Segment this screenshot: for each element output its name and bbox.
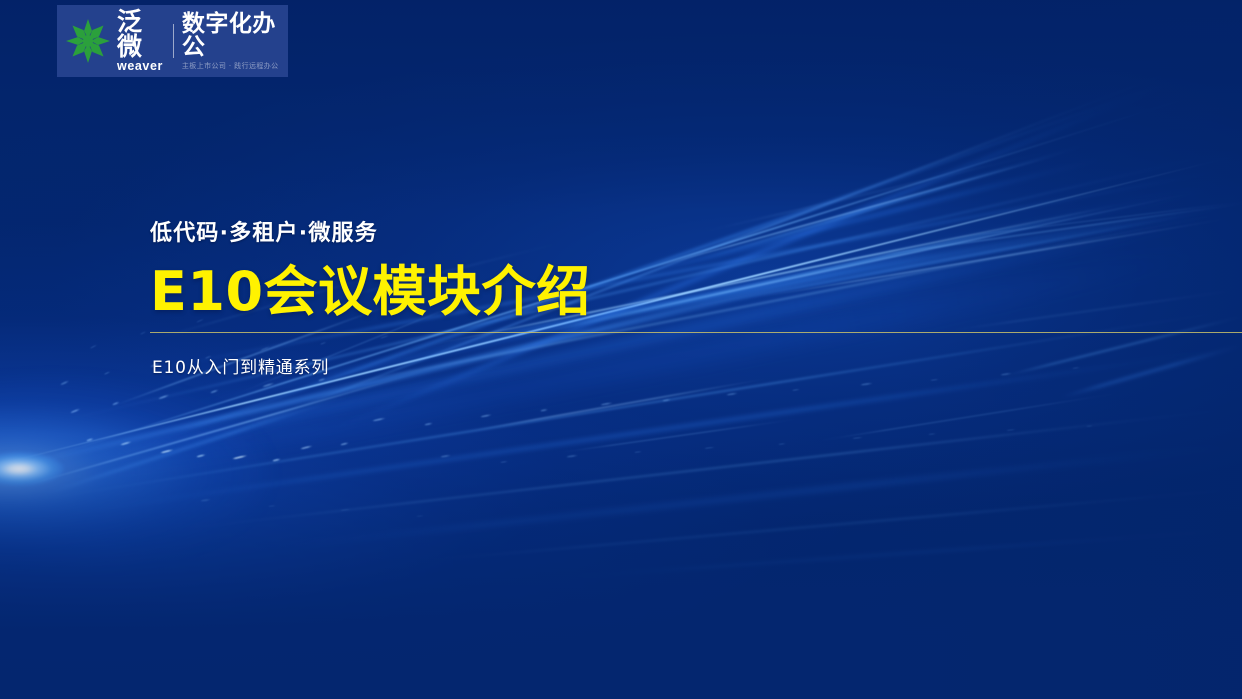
light-streak-field (0, 0, 1242, 699)
slide-eyebrow: 低代码·多租户·微服务 (150, 222, 1240, 246)
light-spark (104, 371, 111, 375)
slide-subtitle: E10从入门到精通系列 (152, 353, 329, 378)
logo-divider (173, 24, 174, 58)
light-streak (260, 444, 1235, 551)
light-spark (500, 461, 508, 463)
logo-brand-cn: 泛微 (117, 9, 164, 59)
light-spark (860, 382, 873, 385)
light-spark (792, 389, 800, 392)
light-spark (416, 515, 424, 517)
light-spark (210, 389, 219, 393)
logo-slogan: 数字化办公 (182, 13, 288, 59)
light-spark (268, 505, 276, 507)
logo-brand-block: 泛微 weaver (117, 9, 164, 73)
light-spark (340, 442, 349, 446)
light-spark (704, 447, 715, 450)
company-logo-badge: 泛微 weaver 数字化办公 主板上市公司 · 践行远程办公 (57, 5, 288, 77)
weaver-star-icon (63, 16, 113, 66)
light-spark (300, 445, 313, 450)
light-spark (90, 344, 98, 349)
light-spark (726, 392, 738, 395)
light-spark (424, 422, 433, 425)
light-streak (560, 529, 1239, 579)
title-divider-rule (150, 332, 1242, 333)
logo-slogan-block: 数字化办公 主板上市公司 · 践行远程办公 (182, 13, 288, 70)
light-streak (1000, 316, 1242, 379)
light-spark (140, 331, 147, 335)
light-spark (930, 379, 939, 382)
light-spark (566, 454, 578, 457)
title-block: 低代码·多租户·微服务 E10会议模块介绍 (150, 222, 1240, 321)
logo-text-block: 泛微 weaver 数字化办公 主板上市公司 · 践行远程办公 (117, 16, 288, 66)
light-spark (852, 437, 863, 440)
presentation-slide: 泛微 weaver 数字化办公 主板上市公司 · 践行远程办公 低代码·多租户·… (0, 0, 1242, 699)
logo-brand-en: weaver (117, 60, 164, 73)
light-spark (540, 408, 548, 411)
light-spark (1086, 425, 1093, 427)
light-spark (634, 451, 642, 453)
light-spark (778, 443, 786, 445)
slide-title: E10会议模块介绍 (150, 264, 1240, 321)
logo-sub-slogan: 主板上市公司 · 践行远程办公 (182, 63, 288, 70)
light-spark (1006, 429, 1016, 431)
light-spark (320, 342, 327, 346)
light-streak (420, 489, 1237, 563)
light-spark (928, 433, 936, 435)
light-spark (480, 414, 492, 418)
